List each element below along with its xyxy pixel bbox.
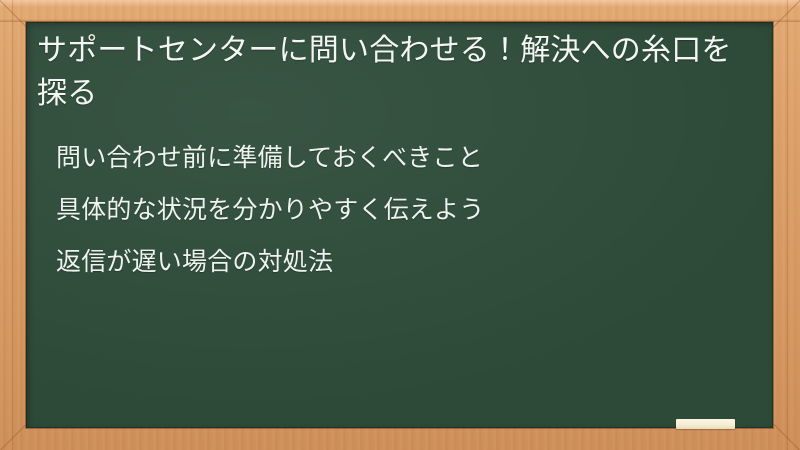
chalkboard-content: サポートセンターに問い合わせる！解決への糸口を探る 問い合わせ前に準備しておくべ… xyxy=(37,30,763,428)
list-item: 返信が遅い場合の対処法 xyxy=(37,249,763,274)
chalk-stick-icon xyxy=(676,419,735,429)
chalkboard-surface: サポートセンターに問い合わせる！解決への糸口を探る 問い合わせ前に準備しておくべ… xyxy=(26,22,773,428)
page-title: サポートセンターに問い合わせる！解決への糸口を探る xyxy=(37,30,763,115)
frame-left-rail-seam xyxy=(12,0,13,450)
topic-list: 問い合わせ前に準備しておくべきこと 具体的な状況を分かりやすく伝えよう 返信が遅… xyxy=(37,145,763,274)
frame-right-rail-seam xyxy=(787,0,788,450)
list-item: 具体的な状況を分かりやすく伝えよう xyxy=(37,197,763,222)
blackboard-title-card: サポートセンターに問い合わせる！解決への糸口を探る 問い合わせ前に準備しておくべ… xyxy=(0,0,800,450)
list-item: 問い合わせ前に準備しておくべきこと xyxy=(37,145,763,170)
frame-top-highlight xyxy=(0,0,800,7)
